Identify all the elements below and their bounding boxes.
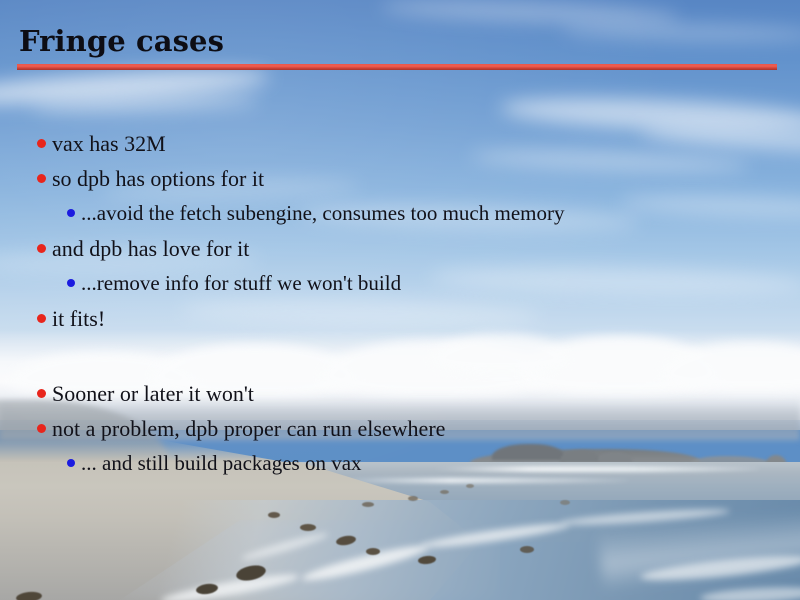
bullet-text: it fits!	[52, 308, 105, 330]
bullet-text: ...remove info for stuff we won't build	[81, 273, 401, 294]
headland-rock	[598, 452, 632, 462]
bullet-item-level1: it fits!	[37, 308, 105, 330]
bullet-item-level1: and dpb has love for it	[37, 238, 249, 260]
beach-debris	[300, 524, 316, 531]
distant-surf-line	[330, 478, 630, 483]
bullet-item-level1: so dpb has options for it	[37, 168, 264, 190]
bullet-item-level1: vax has 32M	[37, 133, 166, 155]
bullet-dot-icon	[37, 314, 46, 323]
bullet-dot-icon	[37, 139, 46, 148]
bullet-item-level2: ...avoid the fetch subengine, consumes t…	[67, 203, 564, 224]
bullet-text: so dpb has options for it	[52, 168, 264, 190]
bullet-item-level1: not a problem, dpb proper can run elsewh…	[37, 418, 445, 440]
beach-debris	[268, 512, 280, 518]
bullet-dot-icon	[67, 209, 75, 217]
bullet-text: and dpb has love for it	[52, 238, 249, 260]
bullet-text: ...avoid the fetch subengine, consumes t…	[81, 203, 564, 224]
bullet-item-level2: ...remove info for stuff we won't build	[67, 273, 401, 294]
bullet-dot-icon	[37, 244, 46, 253]
slide-title: Fringe cases	[19, 24, 224, 58]
beach-debris	[520, 546, 534, 553]
beach-debris	[560, 500, 570, 505]
headland-rock	[492, 444, 564, 460]
bullet-dot-icon	[37, 174, 46, 183]
bullet-dot-icon	[37, 424, 46, 433]
beach-debris	[440, 490, 449, 494]
headland-rock	[560, 450, 600, 462]
bullet-dot-icon	[37, 389, 46, 398]
beach-debris	[408, 496, 418, 501]
presentation-slide: Fringe cases vax has 32Mso dpb has optio…	[0, 0, 800, 600]
beach-debris	[366, 548, 380, 555]
bullet-text: ... and still build packages on vax	[81, 453, 362, 474]
bullet-item-level2: ... and still build packages on vax	[67, 453, 362, 474]
title-underline-rule	[17, 64, 777, 70]
bullet-dot-icon	[67, 279, 75, 287]
beach-debris	[466, 484, 474, 488]
bullet-dot-icon	[67, 459, 75, 467]
bullet-item-level1: Sooner or later it won't	[37, 383, 254, 405]
bullet-text: Sooner or later it won't	[52, 383, 254, 405]
bullet-text: vax has 32M	[52, 133, 166, 155]
bullet-text: not a problem, dpb proper can run elsewh…	[52, 418, 445, 440]
beach-debris	[362, 502, 374, 507]
distant-surf-line	[430, 466, 760, 472]
